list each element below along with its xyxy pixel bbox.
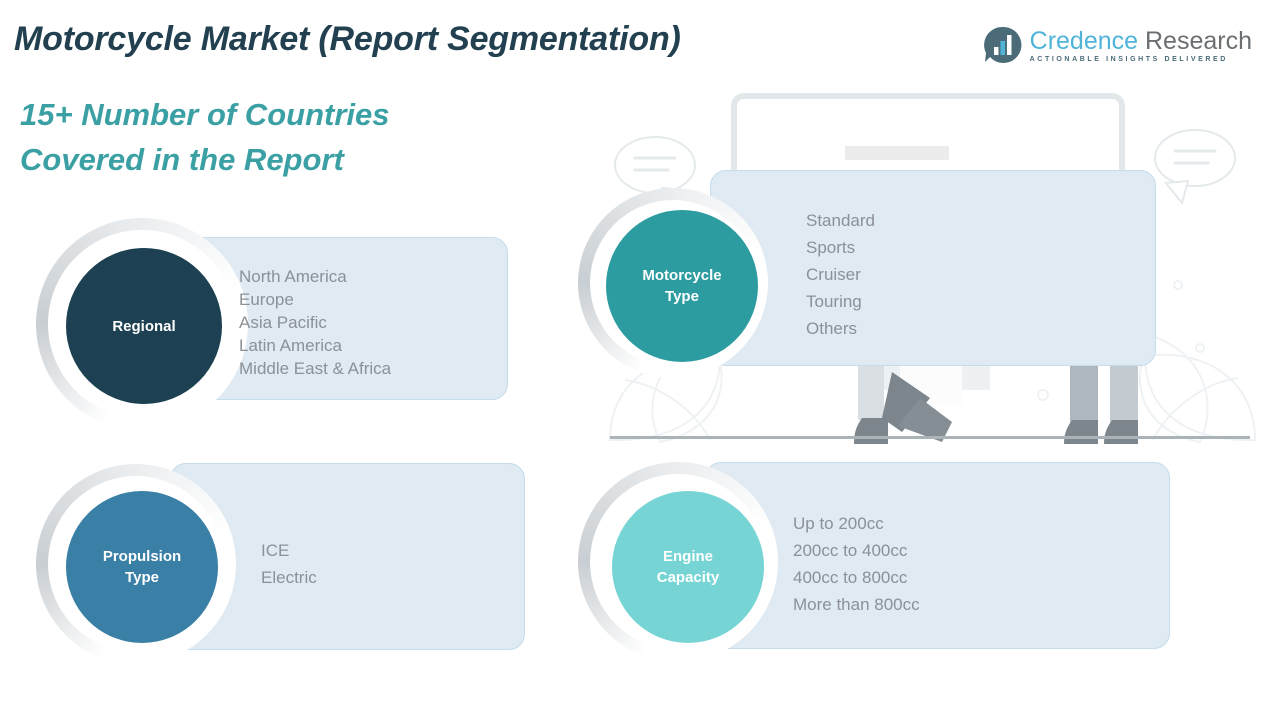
list-item: Europe xyxy=(239,288,391,311)
segment-bubble-propulsion-type[interactable]: Propulsion Type xyxy=(62,487,222,647)
list-item: Touring xyxy=(806,288,875,315)
page-subtitle: 15+ Number of Countries Covered in the R… xyxy=(20,92,390,182)
list-item: Middle East & Africa xyxy=(239,357,391,380)
legs-left xyxy=(854,360,952,444)
bar-chart-speech-bubble-icon xyxy=(983,25,1023,65)
brand-logo[interactable]: Credence Research Actionable Insights De… xyxy=(983,22,1252,68)
list-item: 200cc to 400cc xyxy=(793,537,920,564)
segment-label-line-1: Engine xyxy=(657,546,720,567)
ground-line xyxy=(610,436,1250,439)
list-item: Standard xyxy=(806,207,875,234)
page-title: Motorcycle Market (Report Segmentation) xyxy=(14,20,681,59)
speech-bubble-right-lines xyxy=(1175,151,1215,163)
segment-label-line-2: Capacity xyxy=(657,567,720,588)
segment-label-line-1: Propulsion xyxy=(103,546,181,567)
segment-item-list: ICE Electric xyxy=(261,537,317,591)
logo-name-secondary: Research xyxy=(1138,27,1252,55)
list-item: 400cc to 800cc xyxy=(793,564,920,591)
list-item: Asia Pacific xyxy=(239,311,391,334)
list-item: North America xyxy=(239,265,391,288)
segment-label-line-1: Regional xyxy=(112,316,175,337)
subtitle-line-1: 15+ Number of Countries xyxy=(20,97,390,132)
list-item: Up to 200cc xyxy=(793,510,920,537)
segment-item-list: North America Europe Asia Pacific Latin … xyxy=(239,265,391,380)
logo-text: Credence Research Actionable Insights De… xyxy=(1030,28,1252,63)
speech-bubble-right-icon xyxy=(1155,130,1235,203)
legs-right xyxy=(1064,362,1138,444)
list-item: ICE xyxy=(261,537,317,564)
segment-item-list: Standard Sports Cruiser Touring Others xyxy=(806,207,875,342)
logo-name: Credence Research xyxy=(1030,28,1252,54)
segment-bubble-engine-capacity[interactable]: Engine Capacity xyxy=(608,487,768,647)
logo-name-primary: Credence xyxy=(1030,27,1138,55)
logo-tagline: Actionable Insights Delivered xyxy=(1030,56,1252,63)
segment-item-list: Up to 200cc 200cc to 400cc 400cc to 800c… xyxy=(793,510,920,618)
segment-label-line-1: Motorcycle xyxy=(642,265,721,286)
list-item: Latin America xyxy=(239,334,391,357)
slide-canvas: Motorcycle Market (Report Segmentation) … xyxy=(0,0,1280,720)
segment-label-line-2: Type xyxy=(103,567,181,588)
segment-label-line-2: Type xyxy=(642,286,721,307)
list-item: Electric xyxy=(261,564,317,591)
segment-bubble-motorcycle-type[interactable]: Motorcycle Type xyxy=(602,206,762,366)
speech-bubble-left-lines xyxy=(635,158,675,170)
subtitle-line-2: Covered in the Report xyxy=(20,137,390,182)
list-item: Sports xyxy=(806,234,875,261)
list-item: Others xyxy=(806,315,875,342)
list-item: More than 800cc xyxy=(793,591,920,618)
segment-panel xyxy=(710,170,1156,366)
list-item: Cruiser xyxy=(806,261,875,288)
segment-bubble-regional[interactable]: Regional xyxy=(62,244,226,408)
